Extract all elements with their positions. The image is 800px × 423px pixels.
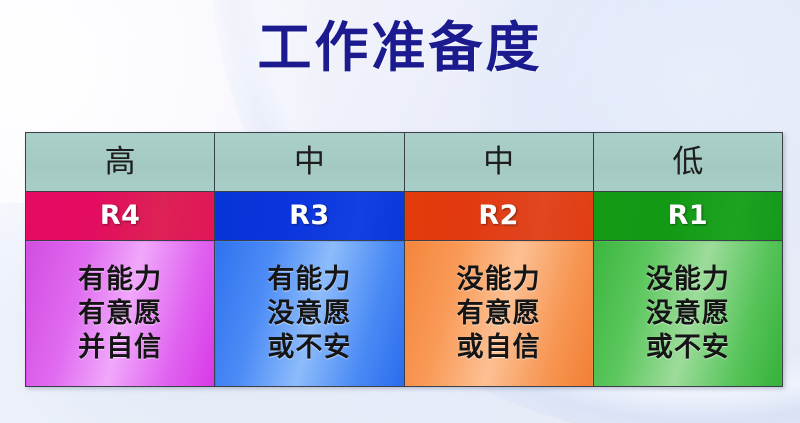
description-text-r4: 有能力 有意愿 并自信 (26, 263, 214, 365)
readiness-level-row: 高 中 中 低 (26, 133, 783, 192)
description-cell-r3: 有能力 没意愿 或不安 (215, 241, 404, 387)
level-cell-r1: 低 (593, 133, 782, 192)
description-text-r1: 没能力 没意愿 或不安 (594, 263, 782, 365)
readiness-matrix: 高 中 中 低 R4 R3 R2 R1 有能力 有意愿 并自信 有能力 没意愿 … (25, 132, 783, 387)
code-cell-r1: R1 (593, 192, 782, 241)
description-text-r2: 没能力 有意愿 或自信 (405, 263, 593, 365)
page-title: 工作准备度 (0, 14, 800, 80)
description-cell-r4: 有能力 有意愿 并自信 (26, 241, 215, 387)
code-cell-r2: R2 (404, 192, 593, 241)
level-cell-r2: 中 (404, 133, 593, 192)
code-cell-r4: R4 (26, 192, 215, 241)
description-text-r3: 有能力 没意愿 或不安 (215, 263, 403, 365)
code-cell-r3: R3 (215, 192, 404, 241)
level-cell-r3: 中 (215, 133, 404, 192)
description-cell-r2: 没能力 有意愿 或自信 (404, 241, 593, 387)
level-cell-r4: 高 (26, 133, 215, 192)
slide-canvas: 工作准备度 高 中 中 低 R4 R3 R2 R1 有能力 有意愿 并自信 有能… (0, 0, 800, 423)
readiness-code-row: R4 R3 R2 R1 (26, 192, 783, 241)
readiness-description-row: 有能力 有意愿 并自信 有能力 没意愿 或不安 没能力 有意愿 或自信 没能力 … (26, 241, 783, 387)
description-cell-r1: 没能力 没意愿 或不安 (593, 241, 782, 387)
